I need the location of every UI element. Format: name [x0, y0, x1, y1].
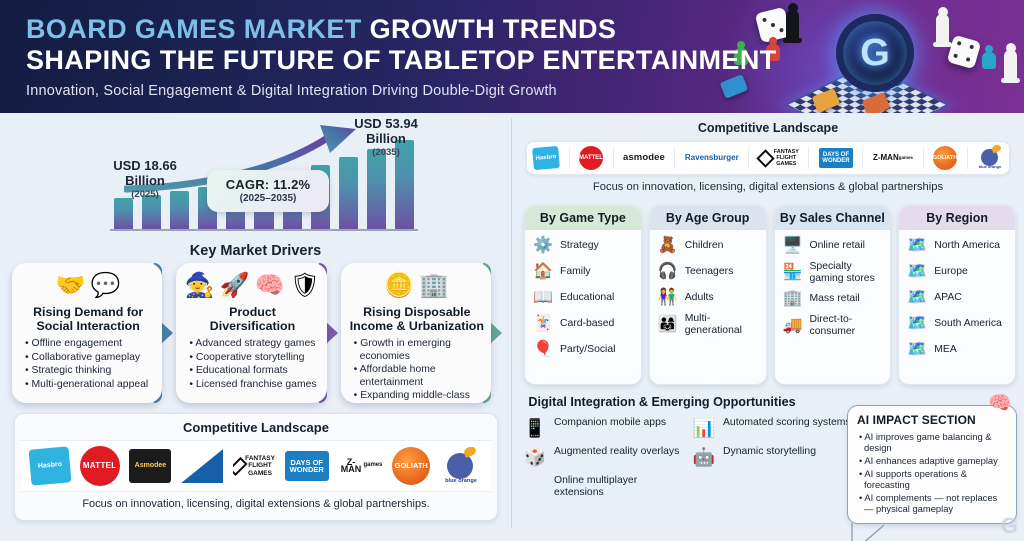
mass-retail-store-icon: 🏢	[782, 288, 804, 310]
page-title-line1: BOARD GAMES MARKET GROWTH TRENDS	[26, 14, 777, 45]
driver-icons: 🪙🏢	[350, 269, 484, 303]
delivery-truck-icon: 🚚	[782, 315, 804, 337]
driver-bullet: Collaborative gameplay	[23, 352, 155, 365]
driver-bullet: Affordable home entertainment	[352, 364, 484, 389]
segment-item[interactable]: 🗺️Europe	[906, 261, 1009, 283]
segment-item[interactable]: 🎧Teenagers	[657, 261, 760, 283]
chart-start-label: USD 18.66 Billion (2025)	[98, 158, 192, 200]
tablet-scoring-icon: 📊	[691, 415, 717, 441]
zman-games-logo-icon: Z-MANgames	[873, 145, 913, 171]
segment-item-label: Educational	[560, 292, 614, 304]
ai-impact-list: AI improves game balancing & designAI en…	[857, 431, 1008, 514]
driver-bullet: Advanced strategy games	[187, 338, 319, 351]
online-cart-monitor-icon: 🖥️	[782, 235, 804, 257]
segment-column-header: By Age Group	[650, 206, 766, 230]
goliath-logo-icon: GOLIATH	[933, 146, 957, 170]
playing-cards-icon: 🃏	[532, 313, 554, 335]
segment-item-label: Multi-generational	[685, 313, 760, 336]
cagr-value: CAGR: 11.2%	[211, 177, 325, 192]
segment-item[interactable]: 🎈Party/Social	[532, 339, 635, 361]
digital-integration-column-2: 📊Automated scoring systems🤖Dynamic story…	[691, 415, 852, 499]
segment-item[interactable]: 👨‍👩‍👧Multi-generational	[657, 313, 760, 336]
driver-bullets: Offline engagementCollaborative gameplay…	[21, 338, 155, 391]
fantasy-flight-games-logo-icon: FANTASYFLIGHTGAMES	[233, 449, 275, 483]
rocket-icon: 🚀	[220, 274, 250, 298]
house-icon: 🏠	[532, 261, 554, 283]
mattel-logo-icon: MATTEL	[579, 146, 603, 170]
shield-icon: 🛡	[290, 274, 320, 298]
asmodee-logo-icon: asmodee	[623, 145, 665, 171]
end-unit: Billion	[336, 131, 436, 146]
mobile-app-icon: 📱	[522, 415, 548, 441]
map-south-america-icon: 🗺️	[906, 313, 928, 335]
chart-baseline	[110, 229, 418, 231]
segment-item-label: Party/Social	[560, 344, 615, 356]
robot-hand-book-icon: 🤖	[691, 444, 717, 470]
segment-item-label: Card-based	[560, 318, 614, 330]
hasbro-logo-icon: Hasbro	[532, 146, 560, 170]
ai-impact-bullet: AI supports operations & forecasting	[857, 468, 1008, 490]
market-growth-chart: USD 18.66 Billion (2025) USD 53.94 Billi…	[96, 118, 436, 243]
chess-piece-icon	[786, 10, 799, 40]
balloons-icon: 🎈	[532, 339, 554, 361]
chess-piece-icon	[936, 14, 949, 44]
specialty-store-icon: 🏪	[782, 262, 804, 284]
segment-item-label: Strategy	[560, 240, 599, 252]
driver-title: Rising Demand for Social Interaction	[21, 305, 155, 333]
header-text-block: BOARD GAMES MARKET GROWTH TRENDS SHAPING…	[26, 14, 777, 99]
ai-brain-chip-icon: 🧠	[988, 394, 1012, 413]
headphones-phone-icon: 🎧	[657, 261, 679, 283]
gears-icon: ⚙️	[532, 235, 554, 257]
segment-item[interactable]: 🏪Specialty gaming stores	[782, 261, 885, 284]
logo-separator	[748, 147, 749, 169]
right-column: Competitive Landscape Hasbro MATTEL asmo…	[512, 113, 1024, 541]
online-multiplayer-icon	[522, 473, 548, 499]
digital-item[interactable]: 📱Companion mobile apps	[522, 415, 683, 441]
start-year: (2025)	[98, 189, 192, 200]
driver-bullet: Strategic thinking	[23, 365, 155, 378]
segment-item-label: Teenagers	[685, 266, 734, 278]
ravensburger-logo-icon: Ravensburger	[685, 145, 739, 171]
segment-column-header: By Sales Channel	[775, 206, 891, 230]
cagr-badge: CAGR: 11.2% (2025–2035)	[207, 170, 329, 212]
segment-item-label: Children	[685, 240, 724, 252]
start-value: USD 18.66	[98, 158, 192, 173]
chart-bar	[367, 149, 386, 229]
digital-item-label: Augmented reality overlays	[554, 444, 679, 458]
map-apac-icon: 🗺️	[906, 287, 928, 309]
segmentation-columns: By Game Type⚙️Strategy🏠Family📖Educationa…	[524, 205, 1016, 385]
coins-icon: 🪙	[384, 274, 414, 298]
digital-integration-grid: 📱Companion mobile apps🎲Augmented reality…	[522, 415, 852, 499]
ai-impact-section: 🧠 AI IMPACT SECTION AI improves game bal…	[847, 405, 1017, 524]
segment-item-label: North America	[934, 240, 1000, 252]
zman-games-logo-icon: Z-MANgames	[338, 451, 382, 481]
days-of-wonder-logo-icon: DAYS OFWONDER	[285, 451, 329, 481]
segment-item[interactable]: 🖥️Online retail	[782, 235, 885, 257]
driver-bullet: Educational formats	[187, 365, 319, 378]
driver-bullet: Growth in emerging economies	[352, 338, 484, 363]
fantasy-flight-games-logo-icon: FANTASYFLIGHTGAMES	[759, 145, 799, 171]
driver-bullet: Expanding middle-class demand	[352, 390, 484, 403]
map-north-america-icon: 🗺️	[906, 235, 928, 257]
segment-item-label: Adults	[685, 292, 714, 304]
driver-bullet: Licensed franchise games	[187, 379, 319, 392]
infographic-page: BOARD GAMES MARKET GROWTH TRENDS SHAPING…	[0, 0, 1024, 541]
driver-card[interactable]: 🧙🚀🧠🛡Product DiversificationAdvanced stra…	[176, 263, 334, 403]
mattel-logo-icon: MATTEL	[80, 446, 120, 486]
page-title-line2: SHAPING THE FUTURE OF TABLETOP ENTERTAIN…	[26, 45, 777, 76]
driver-card[interactable]: 🤝💬Rising Demand for Social InteractionOf…	[12, 263, 170, 403]
digital-item-label: Online multiplayer extensions	[554, 473, 683, 499]
page-subtitle: Innovation, Social Engagement & Digital …	[26, 83, 777, 99]
segment-item[interactable]: 🃏Card-based	[532, 313, 635, 335]
segment-column: By Sales Channel🖥️Online retail🏪Specialt…	[774, 205, 892, 385]
ai-impact-bullet: AI complements — not replaces — physical…	[857, 492, 1008, 514]
segment-column-header: By Game Type	[525, 206, 641, 230]
driver-bullet: Multi-generational appeal	[23, 379, 155, 392]
digital-item-label: Automated scoring systems	[723, 415, 851, 429]
driver-title: Rising Disposable Income & Urbanization	[350, 305, 484, 333]
title-accent: BOARD GAMES MARKET	[26, 14, 362, 44]
segment-item-label: Europe	[934, 266, 968, 278]
segment-item-label: Direct-to-consumer	[810, 314, 885, 337]
title-rest: GROWTH TRENDS	[362, 14, 617, 44]
logo-separator	[967, 147, 968, 169]
ar-board-icon: 🎲	[522, 444, 548, 470]
digital-item[interactable]: Online multiplayer extensions	[522, 473, 683, 499]
competitive-landscape-title-right: Competitive Landscape	[512, 113, 1024, 135]
segment-item-label: APAC	[934, 292, 962, 304]
digital-integration-column-1: 📱Companion mobile apps🎲Augmented reality…	[522, 415, 683, 499]
driver-icons: 🧙🚀🧠🛡	[185, 269, 319, 303]
segment-item[interactable]: 🗺️South America	[906, 313, 1009, 335]
key-market-drivers-title: Key Market Drivers	[0, 243, 511, 259]
segment-item-label: South America	[934, 318, 1002, 330]
driver-title: Product Diversification	[185, 305, 319, 333]
adults-couple-icon: 👫	[657, 287, 679, 309]
competitive-landscape-footer-right: Focus on innovation, licensing, digital …	[512, 175, 1024, 193]
driver-bullets: Growth in emerging economiesAffordable h…	[350, 338, 484, 403]
end-year: (2035)	[336, 147, 436, 158]
digital-item-label: Dynamic storytelling	[723, 444, 816, 458]
segment-item-label: Mass retail	[810, 293, 860, 305]
blue-orange-games-logo-icon: blue orange	[440, 447, 482, 485]
start-unit: Billion	[98, 173, 192, 188]
map-europe-icon: 🗺️	[906, 261, 928, 283]
chess-piece-icon	[1004, 50, 1017, 80]
logo-separator	[569, 147, 570, 169]
brain-icon: 🧠	[255, 274, 285, 298]
segment-item[interactable]: 🏢Mass retail	[782, 288, 885, 310]
digital-item[interactable]: 🎲Augmented reality overlays	[522, 444, 683, 470]
family-icon: 👨‍👩‍👧	[657, 314, 679, 336]
segment-item-label: Specialty gaming stores	[810, 261, 885, 284]
asmodee-logo-icon: Asmodee	[129, 449, 171, 483]
logo-separator	[674, 147, 675, 169]
goliath-logo-icon: GOLIATH	[392, 447, 430, 485]
logo-separator	[923, 147, 924, 169]
segment-item[interactable]: 🗺️North America	[906, 235, 1009, 257]
chart-bar	[114, 198, 133, 229]
hasbro-logo-icon: Hasbro	[28, 446, 71, 485]
segment-item[interactable]: 🚚Direct-to-consumer	[782, 314, 885, 337]
ai-impact-bullet: AI improves game balancing & design	[857, 431, 1008, 453]
segment-item[interactable]: 📖Educational	[532, 287, 635, 309]
segment-item-label: MEA	[934, 344, 957, 356]
driver-bullets: Advanced strategy gamesCooperative story…	[185, 338, 319, 391]
end-value: USD 53.94	[336, 116, 436, 131]
key-market-drivers-list: 🤝💬Rising Demand for Social InteractionOf…	[12, 263, 499, 403]
digital-item[interactable]: 📊Automated scoring systems	[691, 415, 852, 441]
segment-item[interactable]: 🗺️APAC	[906, 287, 1009, 309]
segment-column: By Region🗺️North America🗺️Europe🗺️APAC🗺️…	[898, 205, 1016, 385]
cagr-period: (2025–2035)	[211, 193, 325, 204]
ravensburger-logo-icon	[181, 449, 223, 483]
competitive-landscape-title: Competitive Landscape	[15, 414, 497, 435]
logo-separator	[613, 147, 614, 169]
watermark-logo: G	[1001, 513, 1018, 539]
segment-item[interactable]: 🗺️MEA	[906, 339, 1009, 361]
blue-orange-games-logo-icon: blue orange	[977, 146, 1003, 170]
segment-item[interactable]: 👫Adults	[657, 287, 760, 309]
logo-strip: Hasbro MATTEL Asmodee FANTASYFLIGHTGAMES…	[21, 440, 491, 492]
segment-item-label: Family	[560, 266, 591, 278]
driver-icons: 🤝💬	[21, 269, 155, 303]
competitive-landscape-left: Competitive Landscape Hasbro MATTEL Asmo…	[14, 413, 498, 521]
chart-bar	[142, 195, 161, 229]
digital-item-label: Companion mobile apps	[554, 415, 666, 429]
ai-impact-bullet: AI enhances adaptive gameplay	[857, 455, 1008, 466]
digital-item[interactable]: 🤖Dynamic storytelling	[691, 444, 852, 470]
logo-separator	[808, 147, 809, 169]
segment-item[interactable]: 🧸Children	[657, 235, 760, 257]
logo-strip-right: Hasbro MATTEL asmodee Ravensburger FANTA…	[526, 141, 1010, 175]
segment-column: By Game Type⚙️Strategy🏠Family📖Educationa…	[524, 205, 642, 385]
driver-card[interactable]: 🪙🏢Rising Disposable Income & Urbanizatio…	[341, 263, 499, 403]
segment-column-header: By Region	[899, 206, 1015, 230]
teddy-bear-icon: 🧸	[657, 235, 679, 257]
map-mea-icon: 🗺️	[906, 339, 928, 361]
digital-integration-title: Digital Integration & Emerging Opportuni…	[512, 395, 812, 409]
handshake-icon: 🤝	[56, 274, 86, 298]
speech-bubbles-icon: 💬	[91, 274, 121, 298]
chart-end-label: USD 53.94 Billion (2035)	[336, 116, 436, 158]
ai-impact-heading: AI IMPACT SECTION	[857, 413, 1008, 427]
driver-bullet: Cooperative storytelling	[187, 352, 319, 365]
driver-bullet: Offline engagement	[23, 338, 155, 351]
logo-separator	[862, 147, 863, 169]
segment-item[interactable]: 🏠Family	[532, 261, 635, 283]
segment-item[interactable]: ⚙️Strategy	[532, 235, 635, 257]
competitive-landscape-footer: Focus on innovation, licensing, digital …	[15, 492, 497, 510]
segment-item-label: Online retail	[810, 240, 865, 252]
graduation-book-icon: 📖	[532, 287, 554, 309]
chart-bar	[339, 157, 358, 229]
city-buildings-icon: 🏢	[419, 274, 449, 298]
left-column: USD 18.66 Billion (2025) USD 53.94 Billi…	[0, 113, 511, 541]
header-banner: BOARD GAMES MARKET GROWTH TRENDS SHAPING…	[0, 0, 1024, 113]
segment-column: By Age Group🧸Children🎧Teenagers👫Adults👨‍…	[649, 205, 767, 385]
dice-icon	[947, 35, 982, 70]
callout-tail	[850, 523, 910, 541]
days-of-wonder-logo-icon: DAYS OFWONDER	[819, 148, 853, 168]
wizard-hat-icon: 🧙	[185, 274, 215, 298]
gear-logo-icon	[836, 14, 914, 92]
